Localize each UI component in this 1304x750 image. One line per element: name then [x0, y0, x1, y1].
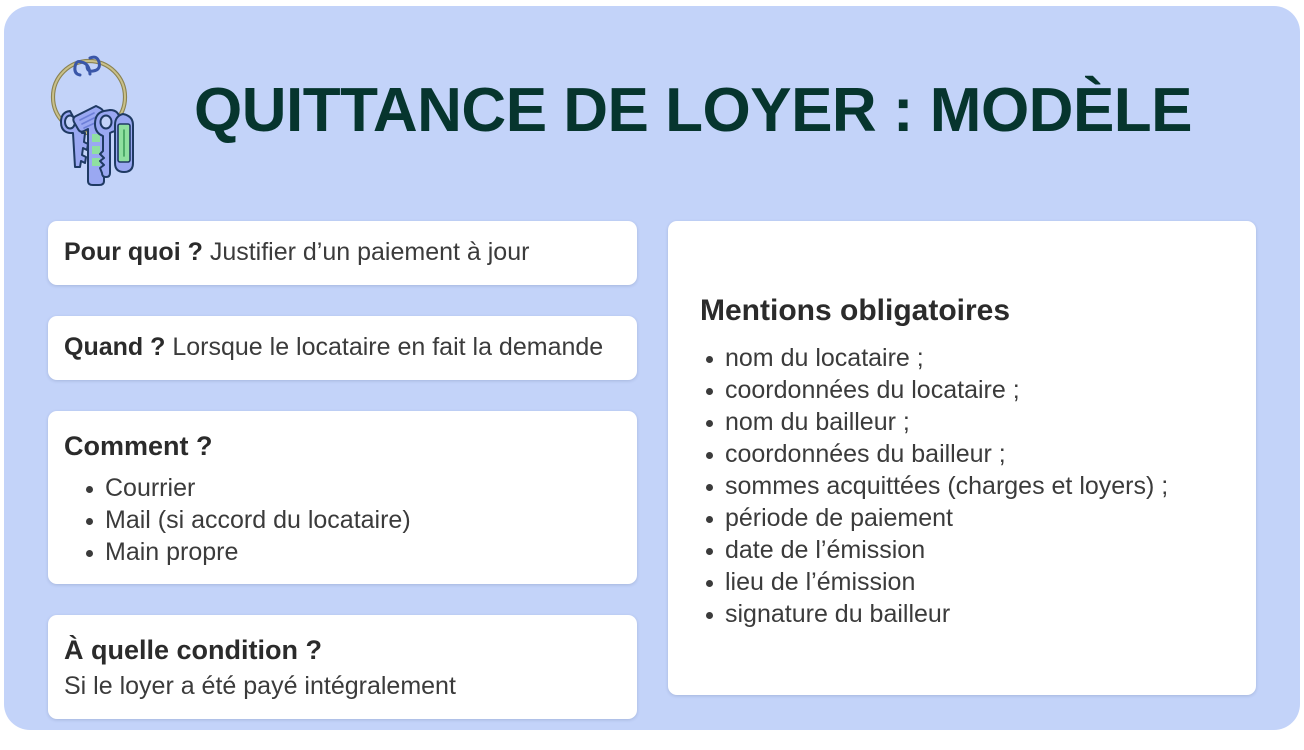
list-item: Mail (si accord du locataire)	[64, 504, 621, 536]
card-condition-subtext: Si le loyer a été payé intégralement	[64, 670, 621, 703]
card-quand-line: Quand ? Lorsque le locataire en fait la …	[64, 332, 603, 363]
list-item: lieu de l’émission	[684, 566, 1240, 598]
list-item: période de paiement	[684, 502, 1240, 534]
keyring-keys-icon	[40, 38, 146, 190]
card-comment-list: Courrier Mail (si accord du locataire) M…	[64, 472, 621, 568]
list-item: signature du bailleur	[684, 598, 1240, 630]
infographic-root: QUITTANCE DE LOYER : MODÈLE Pour quoi ? …	[0, 0, 1304, 744]
list-item: coordonnées du bailleur ;	[684, 438, 1240, 470]
card-condition-heading: À quelle condition ?	[64, 633, 621, 668]
card-mentions-obligatoires: Mentions obligatoires nom du locataire ;…	[668, 221, 1256, 695]
mentions-list: nom du locataire ; coordonnées du locata…	[684, 342, 1240, 630]
card-comment: Comment ? Courrier Mail (si accord du lo…	[48, 411, 637, 584]
card-pour-quoi-line: Pour quoi ? Justifier d’un paiement à jo…	[64, 237, 529, 268]
list-item: date de l’émission	[684, 534, 1240, 566]
card-pour-quoi-value: Justifier d’un paiement à jour	[210, 238, 530, 266]
mentions-heading: Mentions obligatoires	[700, 291, 1240, 330]
card-quand-value: Lorsque le locataire en fait la demande	[172, 333, 603, 361]
card-comment-heading: Comment ?	[64, 429, 621, 464]
card-pour-quoi-label: Pour quoi ?	[64, 238, 203, 266]
header: QUITTANCE DE LOYER : MODÈLE	[40, 34, 1160, 194]
card-pour-quoi: Pour quoi ? Justifier d’un paiement à jo…	[48, 221, 637, 285]
page-title: QUITTANCE DE LOYER : MODÈLE	[194, 80, 1192, 148]
card-quand-label: Quand ?	[64, 333, 165, 361]
list-item: nom du bailleur ;	[684, 406, 1240, 438]
list-item: Courrier	[64, 472, 621, 504]
card-quand: Quand ? Lorsque le locataire en fait la …	[48, 316, 637, 380]
list-item: Main propre	[64, 536, 621, 568]
left-column: Pour quoi ? Justifier d’un paiement à jo…	[48, 221, 637, 750]
list-item: coordonnées du locataire ;	[684, 374, 1240, 406]
list-item: sommes acquittées (charges et loyers) ;	[684, 470, 1240, 502]
list-item: nom du locataire ;	[684, 342, 1240, 374]
card-a-quelle-condition: À quelle condition ? Si le loyer a été p…	[48, 615, 637, 719]
